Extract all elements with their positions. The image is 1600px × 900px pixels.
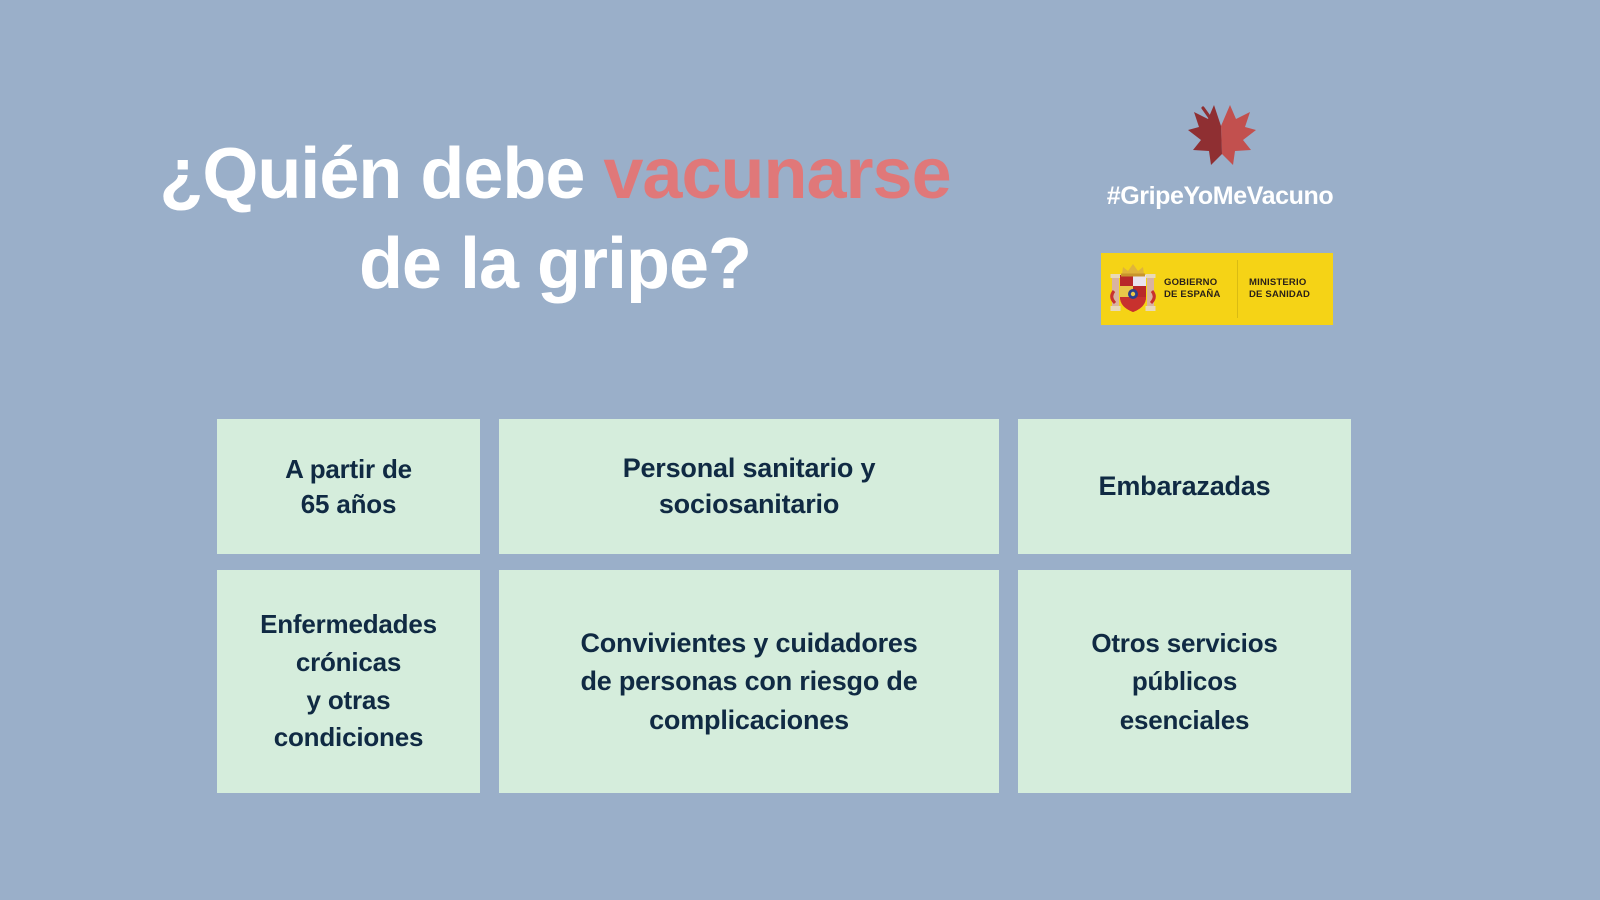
brand-block: #GripeYoMeVacuno xyxy=(1095,88,1345,211)
card-label: Personal sanitario y sociosanitario xyxy=(623,451,876,522)
card-embarazadas: Embarazadas xyxy=(1018,419,1351,554)
card-enfermedades-cronicas: Enfermedades crónicas y otras condicione… xyxy=(217,570,480,793)
maple-leaf-icon xyxy=(1095,88,1345,180)
spain-coat-of-arms-icon xyxy=(1109,261,1157,317)
card-label: Embarazadas xyxy=(1099,469,1271,505)
government-logo-right-text: MINISTERIO DE SANIDAD xyxy=(1238,277,1310,301)
campaign-hashtag: #GripeYoMeVacuno xyxy=(1095,182,1345,211)
card-label: Convivientes y cuidadores de personas co… xyxy=(580,624,917,739)
government-logo-left: GOBIERNO DE ESPAÑA xyxy=(1101,261,1237,317)
risk-group-grid: A partir de 65 años Personal sanitario y… xyxy=(217,419,1351,793)
card-a-partir-de-65-anos: A partir de 65 años xyxy=(217,419,480,554)
card-convivientes-y-cuidadores: Convivientes y cuidadores de personas co… xyxy=(499,570,999,793)
government-logo: GOBIERNO DE ESPAÑA MINISTERIO DE SANIDAD xyxy=(1101,253,1333,325)
card-otros-servicios-publicos: Otros servicios públicos esenciales xyxy=(1018,570,1351,793)
page-title-part-1: ¿Quién debe xyxy=(159,134,603,214)
page-title: ¿Quién debe vacunarse de la gripe? xyxy=(150,130,960,309)
card-label: A partir de 65 años xyxy=(285,452,412,521)
card-personal-sanitario: Personal sanitario y sociosanitario xyxy=(499,419,999,554)
page-title-accent: vacunarse xyxy=(603,134,950,214)
poster-canvas: ¿Quién debe vacunarse de la gripe? #Grip… xyxy=(0,0,1600,900)
government-logo-left-text: GOBIERNO DE ESPAÑA xyxy=(1164,277,1221,301)
card-label: Otros servicios públicos esenciales xyxy=(1091,624,1277,739)
card-label: Enfermedades crónicas y otras condicione… xyxy=(260,606,437,758)
